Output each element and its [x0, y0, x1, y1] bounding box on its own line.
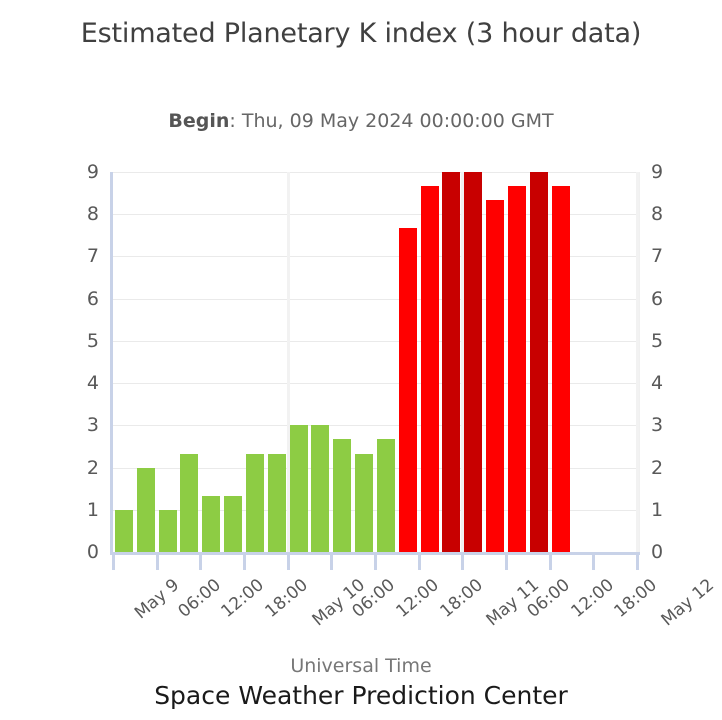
y-tick-label-left: 6 — [65, 290, 99, 309]
x-tick-mark — [636, 553, 639, 570]
y-tick-label-right: 5 — [651, 332, 685, 351]
x-tick-mark — [287, 553, 290, 570]
x-tick-mark — [461, 553, 464, 570]
bar — [290, 425, 308, 552]
bar — [552, 186, 570, 552]
x-tick-mark — [199, 553, 202, 570]
y-tick-label-left: 3 — [65, 416, 99, 435]
subtitle-rest: : Thu, 09 May 2024 00:00:00 GMT — [229, 110, 553, 132]
y-tick-label-right: 4 — [651, 374, 685, 393]
bar — [159, 510, 177, 552]
footer-credit: Space Weather Prediction Center — [0, 681, 722, 710]
bar — [530, 172, 548, 552]
y-tick-label-right: 0 — [651, 543, 685, 562]
y-tick-label-left: 7 — [65, 247, 99, 266]
chart-subtitle: Begin: Thu, 09 May 2024 00:00:00 GMT — [0, 110, 722, 132]
x-tick-label: 06:00 — [174, 575, 224, 622]
y-tick-label-left: 4 — [65, 374, 99, 393]
bar — [311, 425, 329, 552]
plot-area — [113, 172, 637, 552]
y-tick-label-left: 1 — [65, 501, 99, 520]
bar — [377, 439, 395, 552]
chart-root: Estimated Planetary K index (3 hour data… — [0, 0, 722, 720]
subtitle-lead: Begin — [168, 110, 229, 132]
x-tick-mark — [505, 553, 508, 570]
y-axis-line-left — [110, 172, 113, 552]
x-tick-mark — [156, 553, 159, 570]
bar — [268, 454, 286, 552]
x-tick-label: May 12 — [658, 575, 718, 630]
bar — [464, 172, 482, 552]
x-tick-mark — [243, 553, 246, 570]
y-tick-label-left: 9 — [65, 163, 99, 182]
bar — [508, 186, 526, 552]
bar — [246, 454, 264, 552]
x-tick-label: 12:00 — [567, 575, 617, 622]
chart-title: Estimated Planetary K index (3 hour data… — [0, 14, 722, 54]
y-tick-label-right: 7 — [651, 247, 685, 266]
x-tick-mark — [549, 553, 552, 570]
bar — [442, 172, 460, 552]
x-axis-label: Universal Time — [0, 655, 722, 677]
bar — [486, 200, 504, 552]
y-tick-label-right: 8 — [651, 205, 685, 224]
bar — [421, 186, 439, 552]
x-tick-label: 18:00 — [261, 575, 311, 622]
y-tick-label-left: 0 — [65, 543, 99, 562]
y-tick-label-right: 2 — [651, 459, 685, 478]
y-tick-label-right: 1 — [651, 501, 685, 520]
y-tick-label-right: 3 — [651, 416, 685, 435]
y-tick-label-left: 2 — [65, 459, 99, 478]
y-tick-label-right: 6 — [651, 290, 685, 309]
x-tick-label: 18:00 — [611, 575, 661, 622]
gridline — [113, 172, 637, 173]
bar — [333, 439, 351, 552]
x-tick-mark — [330, 553, 333, 570]
y-tick-label-left: 8 — [65, 205, 99, 224]
y-tick-label-right: 9 — [651, 163, 685, 182]
x-tick-label: 12:00 — [218, 575, 268, 622]
bar — [115, 510, 133, 552]
x-tick-mark — [418, 553, 421, 570]
y-tick-label-left: 5 — [65, 332, 99, 351]
x-tick-label: 12:00 — [392, 575, 442, 622]
x-tick-mark — [592, 553, 595, 570]
bar — [180, 454, 198, 552]
x-tick-mark — [112, 553, 115, 570]
bar — [399, 228, 417, 552]
bar — [355, 454, 373, 552]
vertical-gridline — [636, 172, 639, 552]
x-tick-label: May 9 — [131, 575, 183, 623]
bar — [224, 496, 242, 552]
x-tick-mark — [374, 553, 377, 570]
bar — [202, 496, 220, 552]
bar — [137, 468, 155, 552]
x-tick-label: 18:00 — [436, 575, 486, 622]
